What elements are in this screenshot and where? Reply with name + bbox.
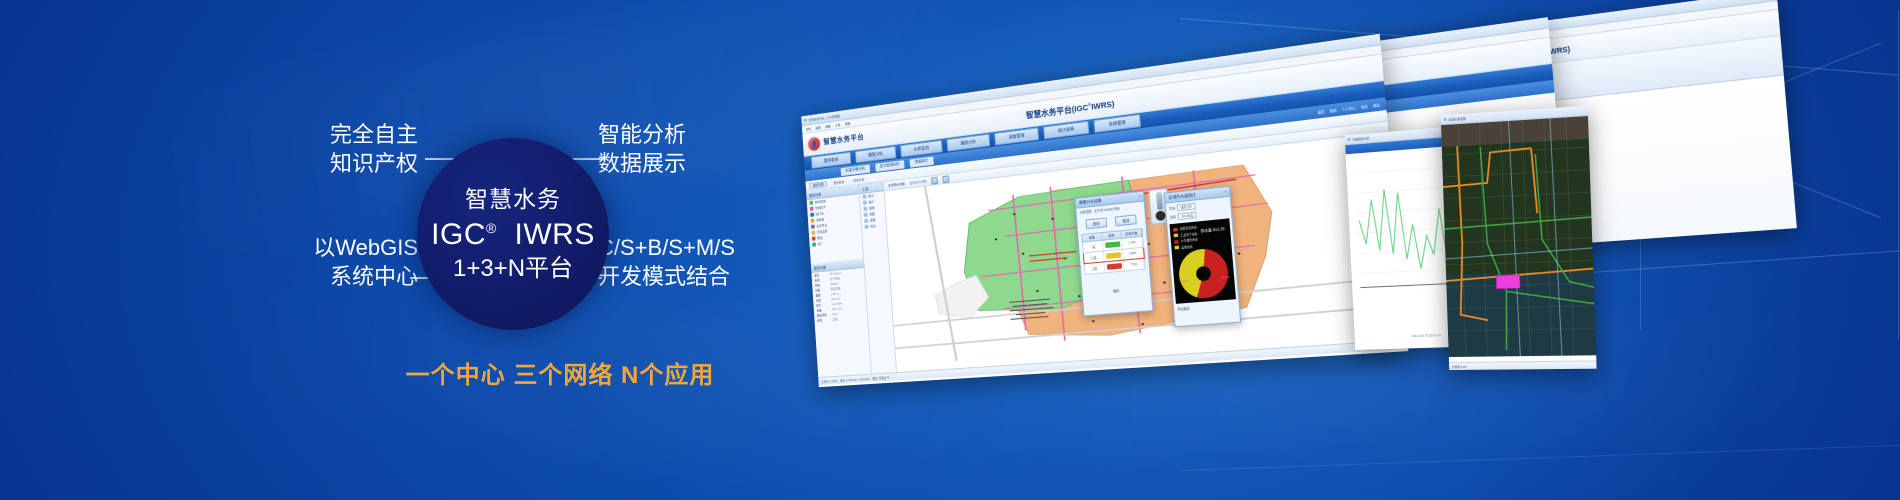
label-icon bbox=[865, 225, 869, 229]
select-icon bbox=[864, 219, 868, 223]
feature-top-right-line2: 数据展示 bbox=[598, 149, 686, 178]
feature-bottom-left-line2: 系统中心 bbox=[280, 262, 418, 291]
layer-swatch bbox=[811, 219, 815, 223]
cancel-button[interactable]: 取消 bbox=[1115, 214, 1137, 226]
window-d-title: 流量趋势分析 bbox=[1352, 136, 1369, 141]
menu-view[interactable]: 视图 bbox=[825, 124, 831, 129]
donut-value-label: 供水量 612.25 bbox=[1200, 226, 1224, 234]
layer-swatch bbox=[810, 213, 814, 217]
legend-label: 其他用水 bbox=[1181, 244, 1193, 249]
badge-igc: IGC bbox=[431, 218, 486, 251]
measure-icon bbox=[864, 213, 868, 217]
infographic: 完全自主 知识产权 以WebGIS 系统中心 智能分析 数据展示 C/S+B/S… bbox=[280, 105, 780, 395]
dialog-title-text: 区域供水量统计 bbox=[1168, 192, 1196, 200]
perspective-line-6 bbox=[1898, 10, 1899, 340]
period-label: 周期 bbox=[1170, 215, 1176, 220]
tool-label: 测距 bbox=[869, 212, 875, 217]
link-messages[interactable]: 消息 bbox=[1360, 104, 1368, 110]
property-value: DN800 bbox=[830, 281, 838, 286]
level-color-chip bbox=[1106, 263, 1121, 270]
window-e-title: 遥感影像底图 bbox=[1448, 116, 1465, 121]
cell-level: 三级 bbox=[1085, 262, 1105, 273]
legend-item: 其他用水 bbox=[1175, 243, 1199, 250]
donut-chart bbox=[1177, 247, 1230, 300]
menu-edit[interactable]: 编辑 bbox=[815, 125, 821, 130]
statistics-dialog[interactable]: 区域供水量统计 ✕ 区域 城西分区 周期 2023年度 bbox=[1164, 186, 1242, 328]
level-color-chip bbox=[1105, 241, 1120, 248]
tool-label: 标注 bbox=[870, 224, 876, 229]
feature-top-left-line2: 知识产权 bbox=[298, 149, 418, 178]
feature-top-left-line1: 完全自主 bbox=[298, 120, 418, 149]
legend-label: 公共服务用水 bbox=[1181, 237, 1198, 243]
feature-bottom-right-line1: C/S+B/S+M/S bbox=[598, 233, 735, 262]
subnav-button[interactable]: 水量平衡分析 bbox=[841, 164, 870, 176]
query-button[interactable]: 查询 bbox=[1085, 217, 1107, 229]
level-color-chip bbox=[1105, 252, 1120, 259]
donut-slice-label-left: 43.8% bbox=[1181, 279, 1189, 283]
feature-bottom-left: 以WebGIS 系统中心 bbox=[280, 233, 418, 291]
status-coords: 坐标 X:452318 Y:3521690 bbox=[840, 376, 870, 382]
subnav-button[interactable]: 压力监测分析 bbox=[875, 160, 905, 172]
tab-analysis[interactable]: 空间分析 bbox=[850, 177, 867, 183]
analysis-dialog[interactable]: 爆管分析结果 ✕ 分析范围：主干管 DN800 管段 查询 取消 等级 颜色 bbox=[1074, 190, 1153, 316]
app-window-imagery[interactable]: 遥感影像底图 bbox=[1441, 106, 1597, 370]
legend-label: 工业生产用水 bbox=[1180, 231, 1197, 237]
feature-top-left: 完全自主 知识产权 bbox=[298, 120, 418, 178]
screenshot-stack: 智慧水务平台 - 系统管理 文件 编辑 视图 工具 帮助 智慧水务平台 智慧水务… bbox=[790, 40, 1800, 400]
status-layer: 图层: 管网主干 bbox=[872, 375, 889, 380]
map-tool-item[interactable]: 标注 bbox=[862, 222, 886, 231]
badge-iwrs: IWRS bbox=[515, 218, 595, 251]
cell-count: 1 240 bbox=[1122, 237, 1143, 249]
map-refresh-icon[interactable] bbox=[931, 176, 938, 184]
layer-label: 泵站 bbox=[817, 236, 823, 241]
layer-swatch bbox=[812, 242, 816, 246]
dialog-close-icon[interactable]: ✕ bbox=[1138, 194, 1143, 199]
hero-banner: 完全自主 知识产权 以WebGIS 系统中心 智能分析 数据展示 C/S+B/S… bbox=[0, 0, 1900, 500]
water-drop-logo-icon bbox=[808, 136, 820, 150]
tab-attributes[interactable]: 属性查询 bbox=[831, 179, 848, 185]
tool-label: 缩小 bbox=[868, 200, 874, 205]
feature-bottom-left-line1: 以WebGIS bbox=[280, 233, 418, 262]
brand-title-tail: IWRS) bbox=[1091, 98, 1115, 111]
brand-title-main: 智慧水务平台(IGC bbox=[1026, 102, 1089, 120]
pan-icon bbox=[863, 206, 867, 210]
property-value: 2016 bbox=[832, 311, 838, 315]
app-window-gis[interactable]: 智慧水务平台 - GIS管网图 文件 编辑 视图 工具 帮助 智慧水务平台 智慧… bbox=[801, 34, 1408, 387]
imagery-status-text: 影像图 2023 bbox=[1452, 364, 1467, 368]
window-e-statusbar: 影像图 2023 bbox=[1449, 360, 1597, 370]
property-value: 1.80 m bbox=[831, 291, 839, 296]
layer-swatch bbox=[812, 236, 816, 240]
region-label: 区域 bbox=[1169, 206, 1175, 211]
window-icon bbox=[1444, 118, 1447, 121]
property-key: 状态 bbox=[817, 317, 830, 322]
tool-label: 放大 bbox=[868, 194, 874, 199]
tool-label: 漫游 bbox=[869, 206, 875, 211]
donut-slice-label-right: 56.2% bbox=[1221, 276, 1230, 280]
property-value: 正常 bbox=[832, 316, 837, 320]
dialog-close-icon[interactable]: ✕ bbox=[1224, 189, 1229, 194]
center-circle-badge: 智慧水务 IGC® IWRS 1+3+N平台 bbox=[417, 138, 609, 330]
feature-bottom-right: C/S+B/S+M/S 开发模式结合 bbox=[598, 233, 735, 291]
badge-line-3: 1+3+N平台 bbox=[453, 257, 573, 281]
layer-swatch bbox=[811, 230, 815, 234]
registered-icon: ® bbox=[486, 220, 497, 236]
window-icon bbox=[804, 119, 807, 122]
tagline: 一个中心 三个网络 N个应用 bbox=[340, 355, 780, 390]
legend-swatch bbox=[1175, 246, 1180, 250]
cell-count: 7 512 bbox=[1124, 259, 1145, 271]
window-c-brand: 智慧水务平台 bbox=[823, 132, 864, 147]
map-print-icon[interactable] bbox=[942, 175, 949, 183]
layer-swatch bbox=[809, 201, 813, 205]
tab-layers[interactable]: 图层管理 bbox=[809, 180, 827, 188]
subnav-button[interactable]: 流量统计 bbox=[910, 156, 934, 167]
link-profile[interactable]: 个人中心 bbox=[1341, 105, 1356, 111]
pan-compass-icon[interactable] bbox=[1155, 210, 1166, 221]
satellite-imagery-map[interactable] bbox=[1441, 116, 1596, 357]
region-select[interactable]: 城西分区 bbox=[1177, 203, 1196, 211]
cell-count: 3 860 bbox=[1123, 248, 1144, 260]
property-value: 185 m³/h bbox=[832, 306, 842, 311]
feature-top-right: 智能分析 数据展示 bbox=[598, 120, 686, 178]
period-select[interactable]: 2023年度 bbox=[1178, 212, 1197, 221]
feature-top-right-line1: 智能分析 bbox=[598, 120, 686, 149]
status-scale: 比例尺 1:5000 bbox=[821, 378, 837, 383]
cell-level: 二级 bbox=[1084, 252, 1104, 264]
zoom-in-icon bbox=[863, 194, 867, 198]
perspective-line-7 bbox=[1180, 445, 1900, 471]
zoom-slider[interactable] bbox=[1155, 192, 1162, 210]
legend-swatch bbox=[1174, 233, 1179, 237]
link-logout[interactable]: 退出 bbox=[1372, 102, 1380, 108]
dialog-a-footer[interactable]: 确定 bbox=[1113, 288, 1120, 293]
map-tab-monitor[interactable]: 监测点分布图 bbox=[909, 179, 926, 185]
layer-label: 水厂 bbox=[817, 242, 823, 247]
link-home[interactable]: 首页 bbox=[1317, 109, 1324, 114]
cell-level: 一级 bbox=[1083, 241, 1103, 253]
donut-chart-panel: 居民生活用水 工业生产用水 公共服务用水 其他用水 供水量 612.25 43.… bbox=[1169, 218, 1235, 304]
legend-swatch bbox=[1173, 227, 1178, 231]
map-tab-main[interactable]: 主管网分布图 bbox=[888, 182, 905, 188]
menu-help[interactable]: 帮助 bbox=[845, 121, 851, 126]
legend-swatch bbox=[1174, 240, 1179, 244]
layer-swatch bbox=[810, 207, 814, 211]
feature-bottom-right-line2: 开发模式结合 bbox=[598, 262, 735, 291]
donut-legend: 居民生活用水 工业生产用水 公共服务用水 其他用水 bbox=[1173, 225, 1199, 250]
zoom-out-icon bbox=[863, 200, 867, 204]
menu-file[interactable]: 文件 bbox=[805, 127, 811, 132]
badge-line-2: IGC® IWRS bbox=[431, 220, 595, 250]
dialog-title-text: 爆管分析结果 bbox=[1079, 198, 1102, 206]
tool-label: 选择 bbox=[870, 218, 876, 223]
window-icon bbox=[1348, 138, 1351, 141]
legend-label: 居民生活用水 bbox=[1180, 225, 1197, 231]
badge-line-1: 智慧水务 bbox=[465, 188, 561, 211]
layer-swatch bbox=[811, 224, 815, 228]
menu-tools[interactable]: 工具 bbox=[835, 122, 841, 127]
link-help[interactable]: 帮助 bbox=[1329, 107, 1337, 112]
